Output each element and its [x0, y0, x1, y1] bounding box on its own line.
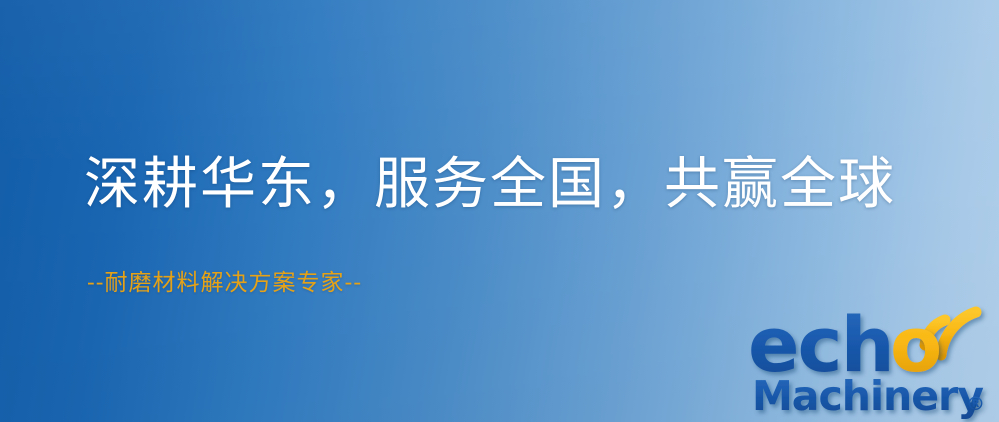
logo-text-machinery: Machinery	[752, 372, 983, 420]
banner-headline: 深耕华东，服务全国，共赢全球	[84, 152, 896, 218]
registered-trademark-icon: ®	[966, 393, 985, 415]
hero-banner: 深耕华东，服务全国，共赢全球 --耐磨材料解决方案专家--	[0, 0, 999, 422]
company-logo[interactable]: ech o Machinery ®	[748, 292, 999, 422]
banner-subtitle: --耐磨材料解决方案专家--	[87, 268, 362, 298]
